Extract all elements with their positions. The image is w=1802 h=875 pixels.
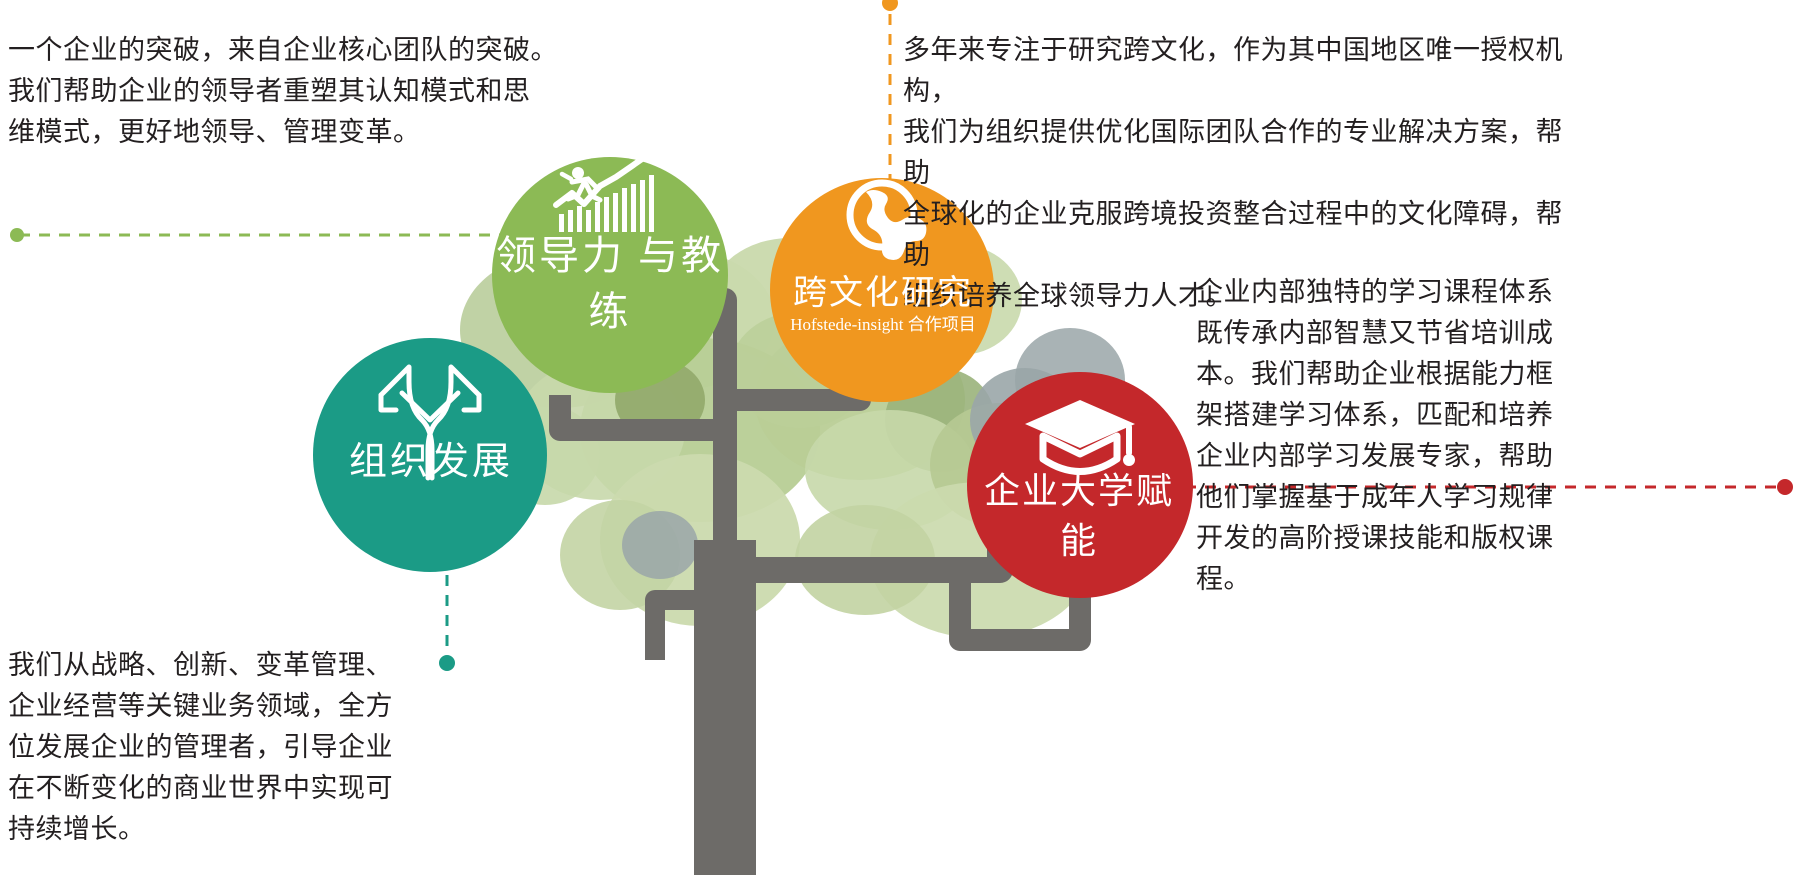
infographic-canvas: 一个企业的突破，来自企业核心团队的突破。 我们帮助企业的领导者重塑其认知模式和思… — [0, 0, 1802, 875]
connector-top-right — [882, 0, 898, 185]
bubble-leadership[interactable] — [492, 146, 728, 393]
paragraph-top-left: 一个企业的突破，来自企业核心团队的突破。 我们帮助企业的领导者重塑其认知模式和思… — [8, 30, 648, 153]
connector-top-left — [10, 228, 540, 265]
bubble-corporate-university[interactable] — [967, 372, 1193, 598]
bubble-organization[interactable] — [313, 338, 547, 572]
paragraph-right-middle: 企业内部独特的学习课程体系 既传承内部智慧又节省培训成 本。我们帮助企业根据能力… — [1196, 272, 1796, 600]
paragraph-bottom-left: 我们从战略、创新、变革管理、 企业经营等关键业务领域，全方 位发展企业的管理者，… — [8, 645, 438, 850]
connector-bottom-left — [439, 575, 455, 671]
